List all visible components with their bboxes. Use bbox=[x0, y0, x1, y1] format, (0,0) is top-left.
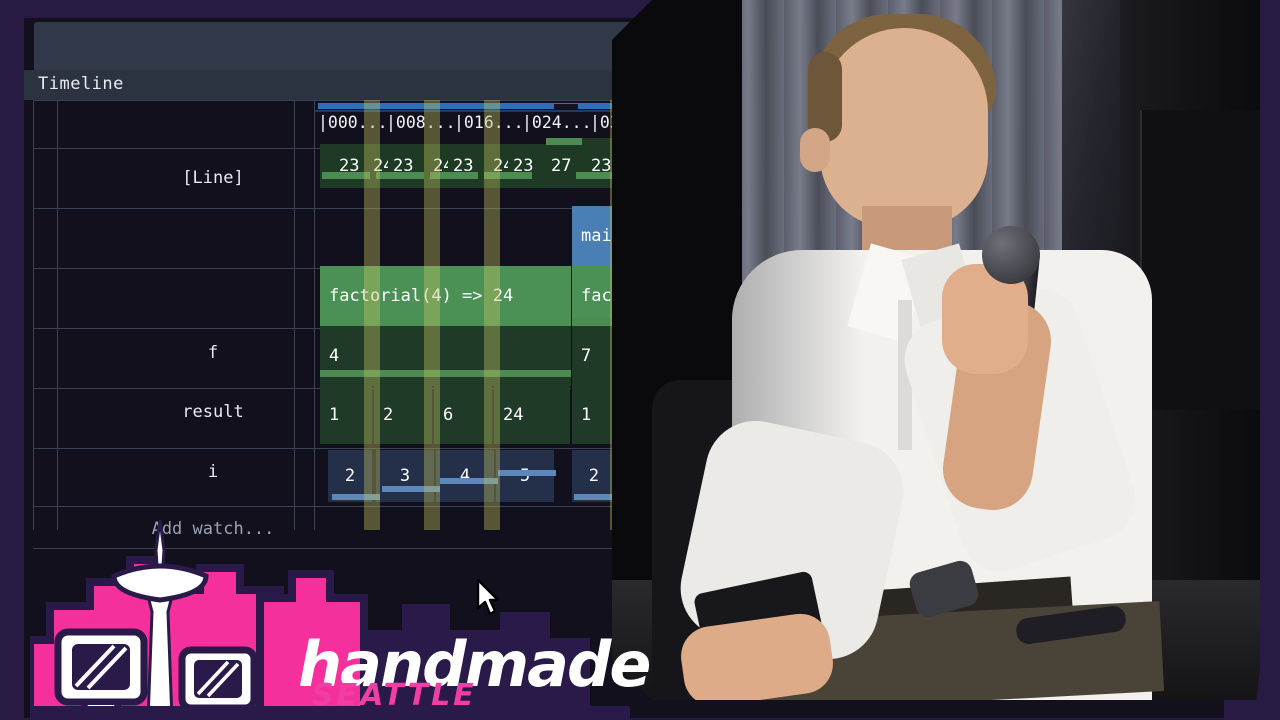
i-value: 3 bbox=[376, 450, 434, 502]
row-label-f[interactable]: f bbox=[133, 343, 293, 363]
line-value: 23 bbox=[330, 144, 366, 188]
i-bar bbox=[332, 494, 380, 500]
piano bbox=[1140, 110, 1260, 410]
f-value: 4 bbox=[320, 326, 380, 386]
grid-line-v bbox=[294, 100, 295, 530]
frame-divider bbox=[571, 266, 572, 326]
line-value: 23 bbox=[504, 144, 540, 188]
line-value: 27 bbox=[542, 144, 578, 188]
i-bar bbox=[498, 470, 556, 476]
row-label-result[interactable]: result bbox=[133, 402, 293, 422]
frame-divider bbox=[571, 326, 572, 386]
panel-title: Timeline bbox=[38, 74, 124, 94]
i-bar bbox=[382, 486, 440, 492]
ruler-tick: |008... bbox=[386, 113, 456, 132]
line-value: 23 bbox=[444, 144, 480, 188]
i-value: 4 bbox=[436, 450, 494, 502]
i-bar bbox=[440, 478, 498, 484]
result-value: 1 bbox=[320, 386, 372, 444]
callstack-frame-factorial-4[interactable]: factorial(4) => 24 bbox=[320, 266, 572, 326]
row-label-line: [Line] bbox=[133, 168, 293, 188]
head bbox=[820, 28, 988, 228]
frame-divider bbox=[571, 386, 572, 446]
row-label-i[interactable]: i bbox=[133, 462, 293, 482]
ruler-tick: |024... bbox=[522, 113, 592, 132]
scrubber-playhead[interactable] bbox=[554, 104, 578, 109]
line-value: 23 bbox=[384, 144, 420, 188]
result-value: 6 bbox=[434, 386, 492, 444]
grid-line-v bbox=[57, 100, 58, 530]
ruler-tick: |016... bbox=[454, 113, 524, 132]
speaker-video bbox=[612, 0, 1260, 700]
result-value: 2 bbox=[374, 386, 432, 444]
result-value: 24 bbox=[494, 386, 570, 444]
logo-subtitle: SEATTLE bbox=[312, 678, 477, 713]
ear bbox=[800, 128, 830, 172]
i-value: 5 bbox=[496, 450, 554, 502]
grid-line-v bbox=[33, 100, 34, 530]
microphone-head bbox=[982, 226, 1040, 284]
ruler-tick: |000... bbox=[318, 113, 388, 132]
mouse-cursor-icon bbox=[476, 578, 502, 618]
handmade-seattle-logo: handmade SEATTLE bbox=[30, 520, 630, 720]
